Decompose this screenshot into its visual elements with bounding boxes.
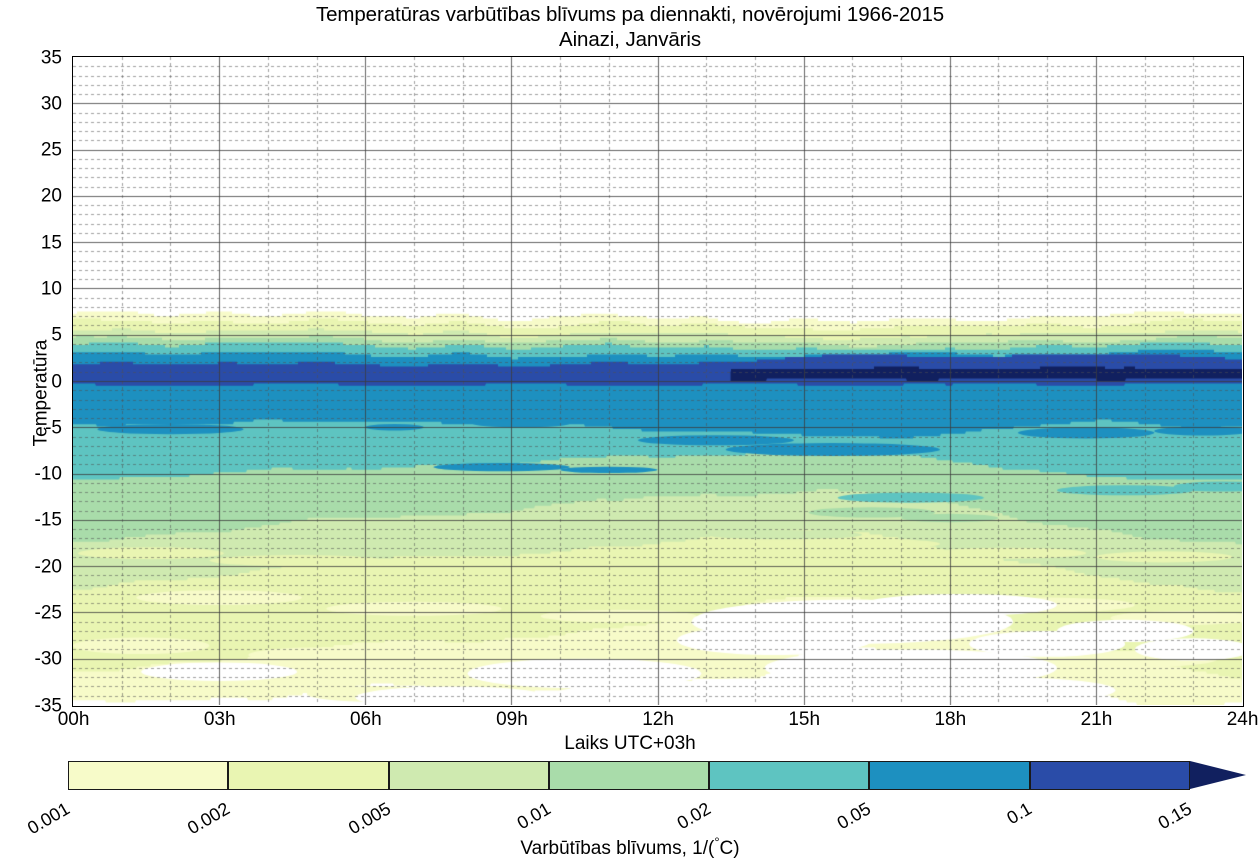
colorbar-extend-arrow xyxy=(1190,761,1246,789)
x-tick-label: 12h xyxy=(642,710,674,729)
colorbar-segment xyxy=(709,761,869,790)
colorbar-segment xyxy=(68,761,228,790)
x-tick-label: 21h xyxy=(1081,710,1113,729)
colorbar xyxy=(68,761,1190,790)
x-tick-label: 00h xyxy=(58,710,90,729)
colorbar-segment xyxy=(549,761,709,790)
colorbar-title-suffix: C) xyxy=(720,838,740,859)
x-tick-label: 15h xyxy=(788,710,820,729)
y-tick-label: 15 xyxy=(0,233,62,252)
colorbar-segment xyxy=(228,761,388,790)
y-tick-label: -15 xyxy=(0,511,62,530)
y-tick-label: -25 xyxy=(0,604,62,623)
chart-page: Temperatūras varbūtības blīvums pa dienn… xyxy=(0,0,1260,868)
y-tick-label: 10 xyxy=(0,280,62,299)
y-tick-label: -35 xyxy=(0,696,62,715)
y-tick-label: 20 xyxy=(0,187,62,206)
x-tick-label: 18h xyxy=(934,710,966,729)
y-axis-title: Temperatūra xyxy=(30,340,52,447)
x-tick-label: 09h xyxy=(496,710,528,729)
y-tick-label: 30 xyxy=(0,94,62,113)
x-tick-label: 06h xyxy=(350,710,382,729)
x-tick-label: 24h xyxy=(1227,710,1259,729)
x-axis-title: Laiks UTC+03h xyxy=(0,733,1260,755)
x-tick-label: 03h xyxy=(204,710,236,729)
colorbar-segment xyxy=(1030,761,1190,790)
colorbar-segment xyxy=(389,761,549,790)
colorbar-title-prefix: Varbūtības blīvums, 1/( xyxy=(520,838,714,859)
colorbar-title: Varbūtības blīvums, 1/(°C) xyxy=(0,838,1260,860)
colorbar-segment xyxy=(869,761,1029,790)
y-tick-label: 25 xyxy=(0,141,62,160)
y-tick-label: -20 xyxy=(0,557,62,576)
y-tick-label: 35 xyxy=(0,48,62,67)
y-tick-label: -30 xyxy=(0,650,62,669)
y-tick-label: -10 xyxy=(0,465,62,484)
